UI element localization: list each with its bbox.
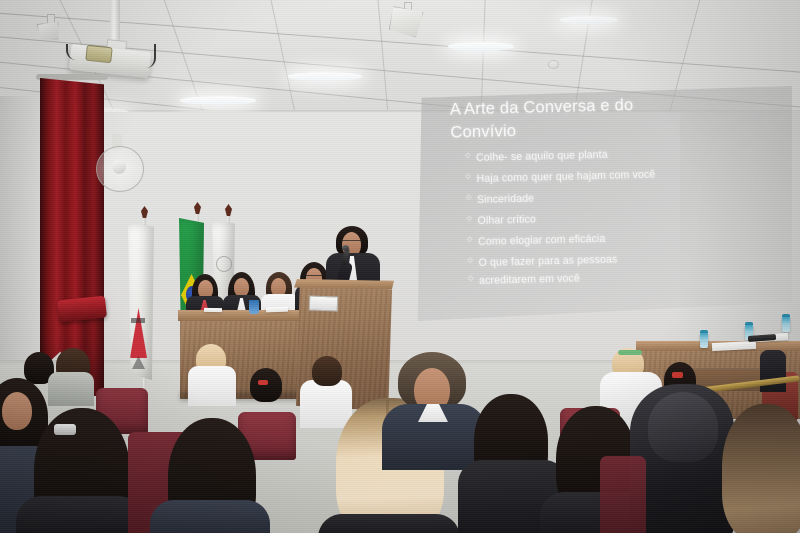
ceiling-light-4 <box>560 16 618 24</box>
projector-lens-icon <box>85 45 113 64</box>
ceiling-light-3 <box>448 42 514 51</box>
audience-mid-3-top <box>188 366 236 406</box>
audience-fg-1-head <box>2 392 32 430</box>
audience-fg-blonde-torso <box>318 514 460 533</box>
table-paper-1 <box>266 307 288 313</box>
audience-mid-5-top <box>300 380 352 428</box>
projected-slide: A Arte da Conversa e do Convívio Colhe- … <box>428 91 773 299</box>
microphone-head-icon <box>342 245 349 251</box>
audience-mid-4-clip-icon <box>258 380 268 385</box>
table-paper-2 <box>204 308 222 312</box>
slide-bullet-list: Colhe- se aquilo que planta Haja como qu… <box>429 143 772 290</box>
slide-bullet: Olhar crítico <box>466 207 770 229</box>
audience-mid-4-hair <box>250 368 282 402</box>
slide-bullet: Haja como quer que hajam com você <box>465 164 769 186</box>
audience-fg-3-torso <box>150 500 270 533</box>
audience-fg-hood-icon <box>648 392 718 462</box>
wall-speaker-3 <box>548 60 559 69</box>
slide-bullet: Como elogiar com eficácia <box>467 228 771 250</box>
slide-bullet: Sinceridade <box>466 186 770 208</box>
audience-fg-7-hair <box>722 404 800 533</box>
chair-fg-right <box>600 456 646 533</box>
slide-bullet: Colhe- se aquilo que planta <box>465 143 769 165</box>
fan-hub <box>112 160 126 174</box>
water-bottle-1 <box>700 333 708 348</box>
audience-mid-2-top <box>48 372 94 406</box>
flag-minas-motto <box>131 318 145 323</box>
blue-cup <box>249 300 259 314</box>
auditorium-photo: A Arte da Conversa e do Convívio Colhe- … <box>0 0 800 533</box>
slide-bullet-continuation: acreditarem em você <box>468 267 772 289</box>
flag-institution-emblem <box>216 256 232 272</box>
left-wall <box>0 96 40 396</box>
ceiling-light-1 <box>180 96 256 105</box>
flag-minas-triangle <box>130 308 147 358</box>
podium-plate <box>309 295 339 311</box>
flag-minas-gerais <box>128 222 154 380</box>
slide-title: A Arte da Conversa e do Convívio <box>450 94 656 145</box>
audience-fg-2-hairclip-icon <box>54 424 76 435</box>
audience-fg-2-torso <box>16 496 144 533</box>
audience-mid-6-clip-icon <box>672 372 683 378</box>
water-bottle-3 <box>782 317 790 332</box>
audience-mid-5-hair <box>312 356 342 386</box>
ceiling-light-2 <box>288 72 362 81</box>
audience-white-coat-band <box>618 350 642 355</box>
projector-cable-2 <box>138 44 156 68</box>
